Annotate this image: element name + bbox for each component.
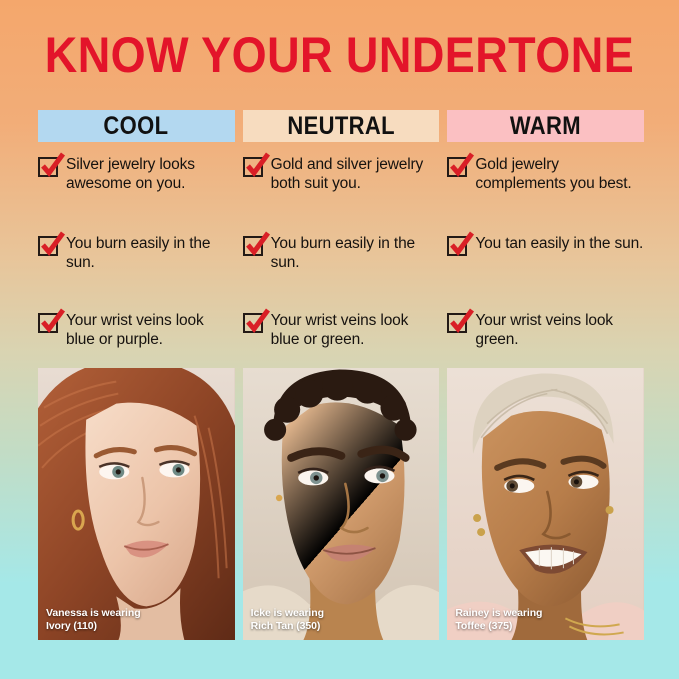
- band-warm: WARM: [447, 110, 644, 142]
- column-header-bands: COOL NEUTRAL WARM: [38, 110, 644, 142]
- model-photo-rainey: Rainey is wearing Toffee (375): [447, 368, 644, 640]
- column-header-label-warm: WARM: [510, 114, 581, 139]
- checkmark-icon: [447, 236, 467, 256]
- list-item: You burn easily in the sun.: [243, 234, 440, 294]
- list-item-label: Your wrist veins look green.: [475, 311, 644, 349]
- model-photo-vanessa: Vanessa is wearing Ivory (110): [38, 368, 235, 640]
- band-cool: COOL: [38, 110, 235, 142]
- list-item: You tan easily in the sun.: [447, 234, 644, 294]
- list-item-label: Silver jewelry looks awesome on you.: [66, 155, 235, 193]
- caption-line-2: Rich Tan (350): [251, 620, 324, 633]
- portrait-image-icke: [243, 368, 440, 640]
- list-item-label: Your wrist veins look blue or purple.: [66, 311, 235, 349]
- checkmark-icon: [447, 313, 467, 333]
- checklist-columns: Silver jewelry looks awesome on you. You…: [38, 155, 644, 349]
- list-item: Your wrist veins look blue or purple.: [38, 311, 235, 349]
- list-item: You burn easily in the sun.: [38, 234, 235, 294]
- photo-caption-rainey: Rainey is wearing Toffee (375): [455, 607, 542, 632]
- list-item-label: You tan easily in the sun.: [475, 234, 643, 253]
- checklist-column-warm: Gold jewelry complements you best. You t…: [447, 155, 644, 349]
- caption-line-1: Rainey is wearing: [455, 607, 542, 620]
- list-item-label: Gold and silver jewelry both suit you.: [271, 155, 440, 193]
- caption-line-1: Vanessa is wearing: [46, 607, 141, 620]
- list-item: Your wrist veins look green.: [447, 311, 644, 349]
- checkmark-icon: [243, 157, 263, 177]
- list-item: Your wrist veins look blue or green.: [243, 311, 440, 349]
- list-item-label: You burn easily in the sun.: [66, 234, 235, 272]
- list-item-label: Gold jewelry complements you best.: [475, 155, 644, 193]
- undertone-infographic: KNOW YOUR UNDERTONE COOL NEUTRAL WARM Si…: [0, 0, 679, 679]
- checkmark-icon: [38, 157, 58, 177]
- list-item: Gold and silver jewelry both suit you.: [243, 155, 440, 217]
- column-header-label-neutral: NEUTRAL: [287, 114, 395, 139]
- caption-line-2: Ivory (110): [46, 620, 141, 633]
- title-container: KNOW YOUR UNDERTONE: [0, 28, 679, 82]
- photo-caption-vanessa: Vanessa is wearing Ivory (110): [46, 607, 141, 632]
- band-neutral: NEUTRAL: [243, 110, 440, 142]
- model-photo-row: Vanessa is wearing Ivory (110): [38, 368, 644, 640]
- checkmark-icon: [243, 236, 263, 256]
- list-item-label: You burn easily in the sun.: [271, 234, 440, 272]
- page-title: KNOW YOUR UNDERTONE: [45, 28, 634, 82]
- portrait-image-rainey: [447, 368, 644, 640]
- checkmark-icon: [243, 313, 263, 333]
- checkmark-icon: [38, 236, 58, 256]
- model-photo-icke: Icke is wearing Rich Tan (350): [243, 368, 440, 640]
- list-item-label: Your wrist veins look blue or green.: [271, 311, 440, 349]
- portrait-image-vanessa: [38, 368, 235, 640]
- checkmark-icon: [38, 313, 58, 333]
- checklist-column-neutral: Gold and silver jewelry both suit you. Y…: [243, 155, 440, 349]
- list-item: Silver jewelry looks awesome on you.: [38, 155, 235, 217]
- caption-line-2: Toffee (375): [455, 620, 542, 633]
- column-header-label-cool: COOL: [104, 114, 169, 139]
- photo-caption-icke: Icke is wearing Rich Tan (350): [251, 607, 324, 632]
- checklist-column-cool: Silver jewelry looks awesome on you. You…: [38, 155, 235, 349]
- caption-line-1: Icke is wearing: [251, 607, 324, 620]
- checkmark-icon: [447, 157, 467, 177]
- list-item: Gold jewelry complements you best.: [447, 155, 644, 217]
